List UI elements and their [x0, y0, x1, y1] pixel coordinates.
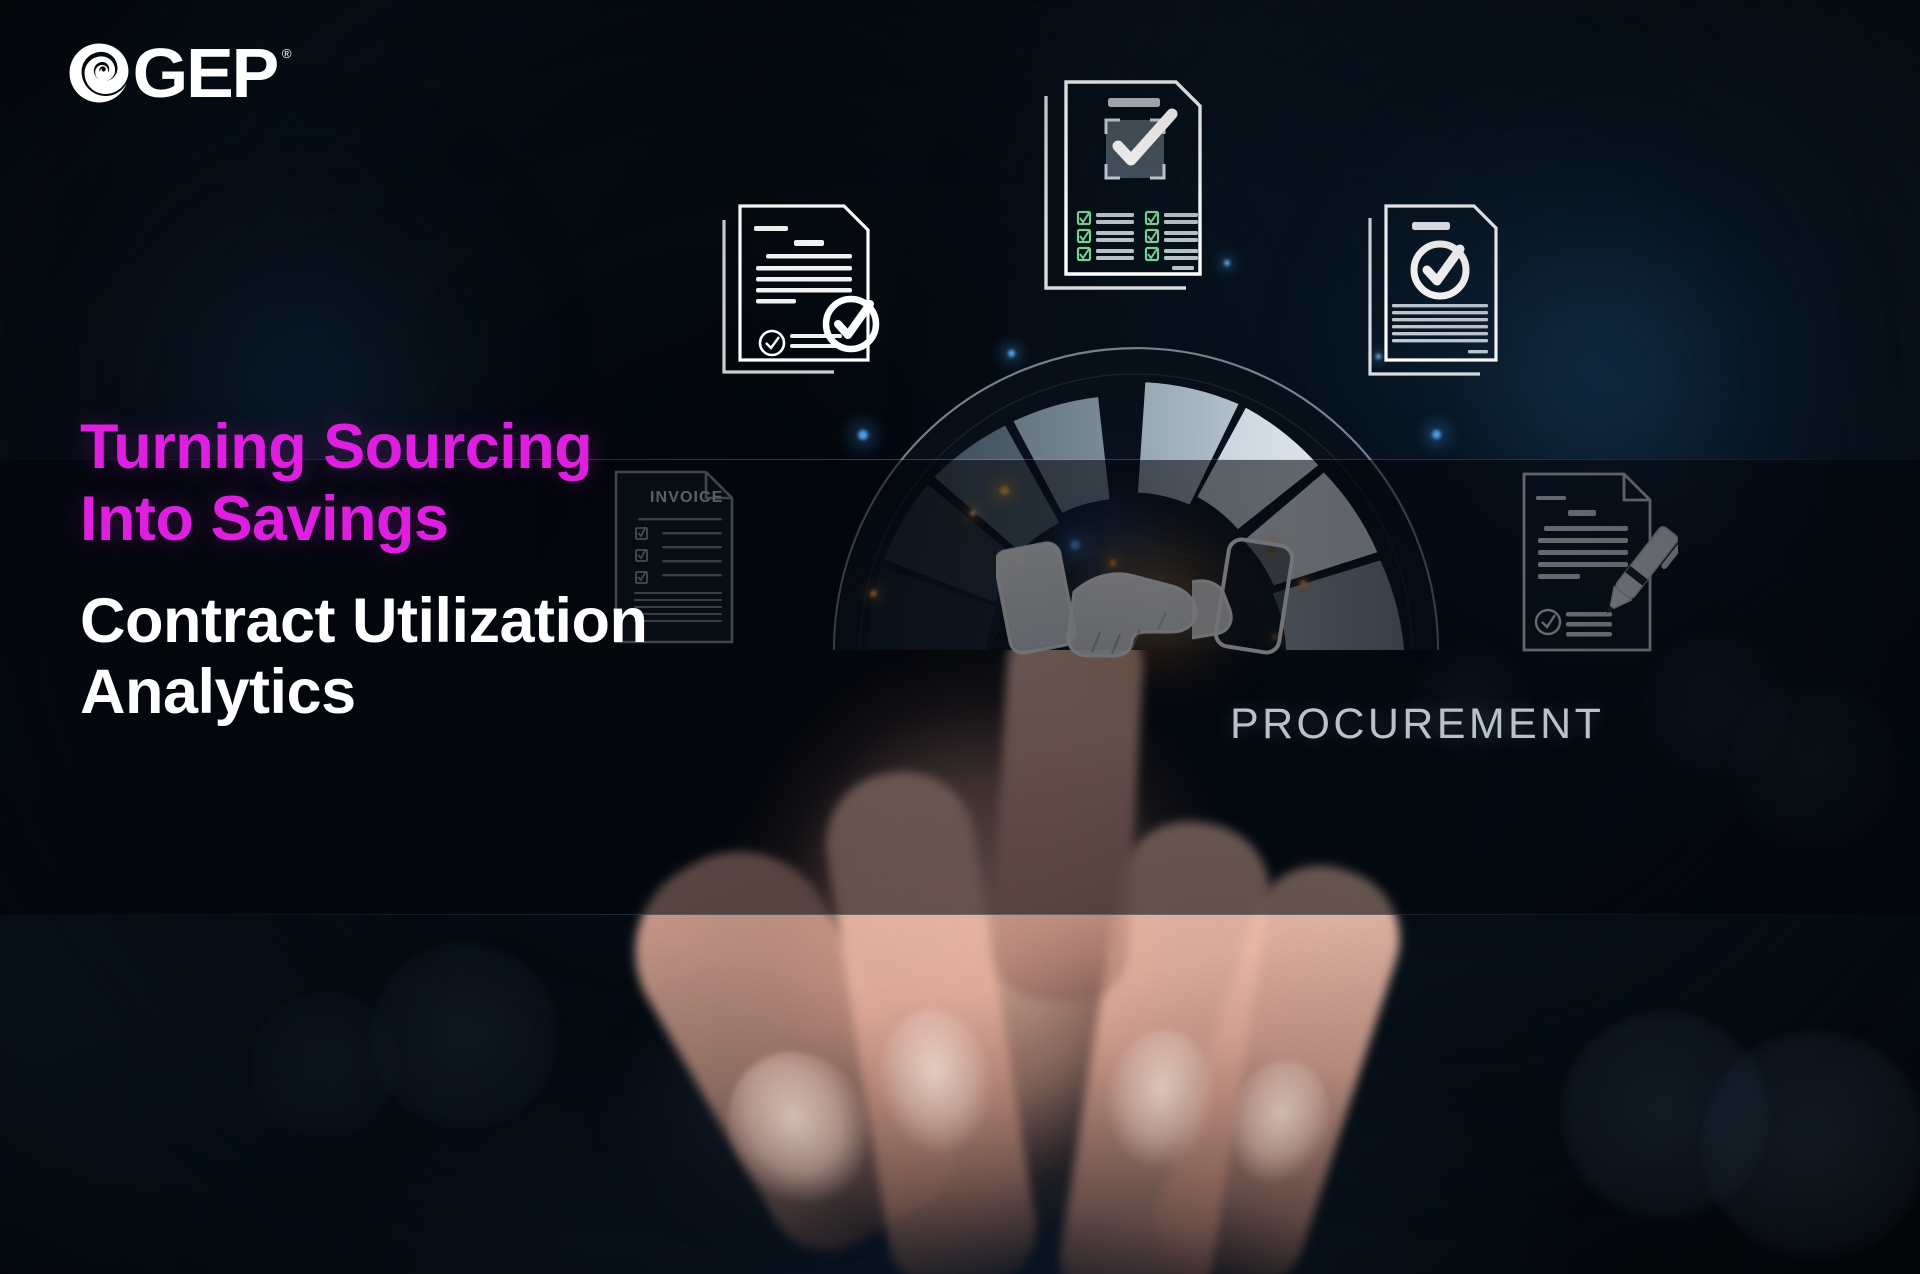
document-approved-center [1036, 74, 1212, 298]
headline-spacer [80, 556, 840, 586]
procurement-label: PROCUREMENT [1230, 700, 1604, 749]
hero-banner: INVOICE [0, 0, 1920, 1274]
document-checkmark-left [716, 196, 892, 380]
headline-line-3: Contract Utilization [80, 586, 840, 658]
signed-contract-document [1518, 468, 1678, 658]
gep-wordmark: GEP [133, 38, 278, 108]
registered-trademark-symbol: ® [282, 46, 292, 61]
gep-logo[interactable]: GEP ® [68, 38, 291, 108]
document-verified-right [1364, 200, 1516, 382]
handshake-icon [996, 520, 1296, 700]
headline-block: Turning Sourcing Into Savings Contract U… [80, 412, 840, 729]
gep-spiral-mark [68, 42, 130, 104]
headline-line-2: Into Savings [80, 484, 840, 556]
headline-line-1: Turning Sourcing [80, 412, 840, 484]
headline-line-4: Analytics [80, 657, 840, 729]
